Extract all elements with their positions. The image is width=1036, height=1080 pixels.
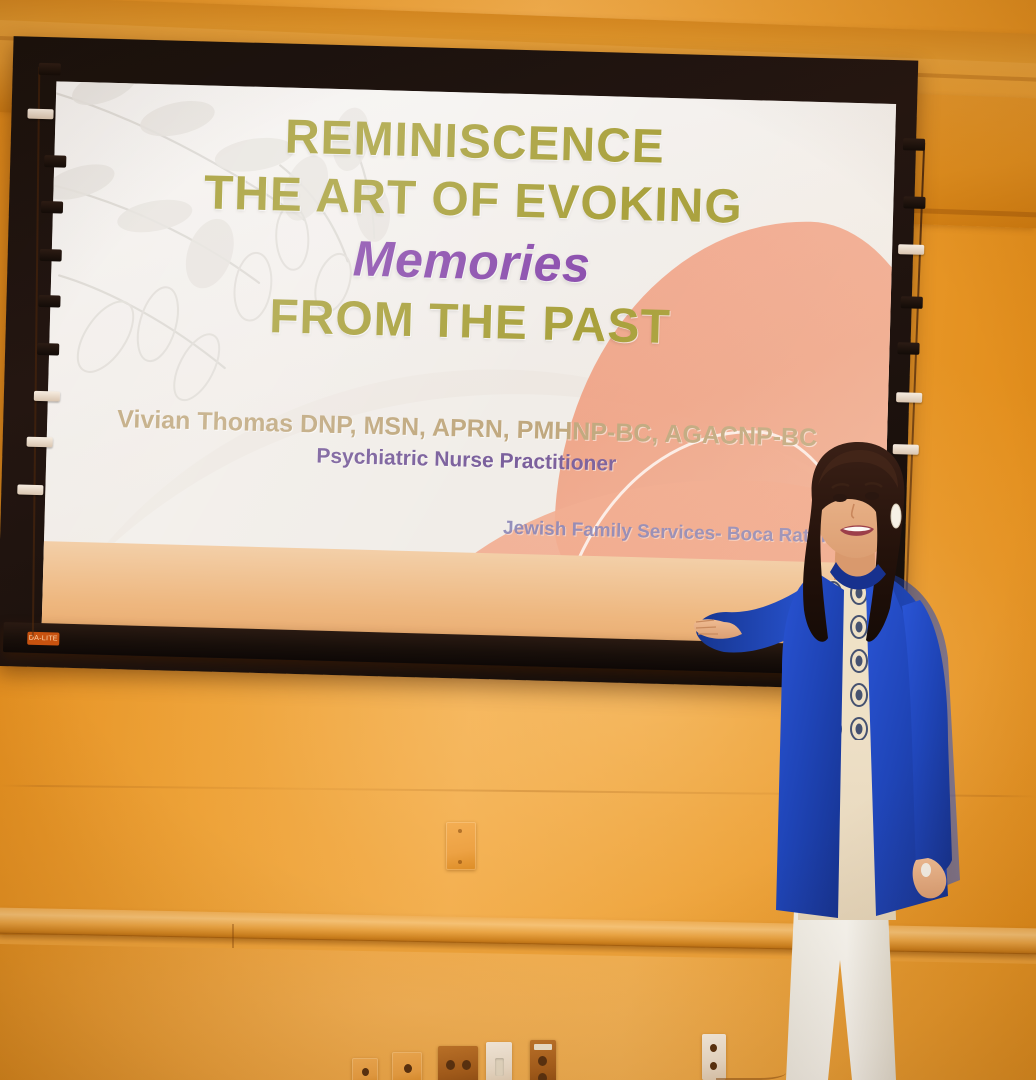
wall-plate-screw-bottom [458, 860, 462, 864]
wall-outlet-3-duplex [438, 1046, 478, 1080]
chair-rail-joint [232, 924, 234, 948]
presenter-eye-left [833, 494, 847, 502]
screen-clip-left-6 [38, 295, 60, 308]
screen-clip-left-3 [44, 155, 66, 168]
screen-clip-left-1 [39, 63, 61, 76]
wall-outlet-1-socket [362, 1068, 369, 1076]
screen-clip-left-9 [27, 437, 53, 448]
wall-plate-screw-top [458, 829, 462, 833]
screen-clip-left-5 [40, 249, 62, 262]
wall-outlet-4-socket-a [538, 1056, 547, 1066]
screen-clip-left-10 [17, 484, 43, 495]
screen-clip-left-4 [41, 201, 63, 214]
screen-clip-left-8 [34, 391, 60, 402]
presenter-earring [891, 504, 901, 528]
wall-outlet-4-label [534, 1044, 552, 1050]
screen-clip-right-3 [898, 244, 924, 255]
screen-clip-left-2 [27, 109, 53, 120]
screen-clip-right-5 [897, 342, 919, 355]
screen-clip-left-7 [37, 343, 59, 356]
light-switch-toggle[interactable] [495, 1058, 504, 1076]
screen-clip-right-2 [903, 196, 925, 209]
wall-outlet-3-socket-a [446, 1060, 455, 1070]
presentation-photo: REMINISCENCE THE ART OF EVOKING Memories… [0, 0, 1036, 1080]
wall-outlet-2-socket [404, 1064, 412, 1073]
presenter-pants [786, 910, 896, 1080]
wall-outlet-3-socket-b [462, 1060, 471, 1070]
screen-clip-right-1 [903, 138, 925, 151]
presenter-figure [690, 440, 1036, 1080]
presenter-eye-right [865, 492, 879, 500]
presenter-ring [921, 863, 931, 877]
screen-clip-right-4 [901, 296, 923, 309]
screen-clip-right-6 [896, 392, 922, 403]
wall-outlet-4-socket-b [538, 1073, 547, 1080]
